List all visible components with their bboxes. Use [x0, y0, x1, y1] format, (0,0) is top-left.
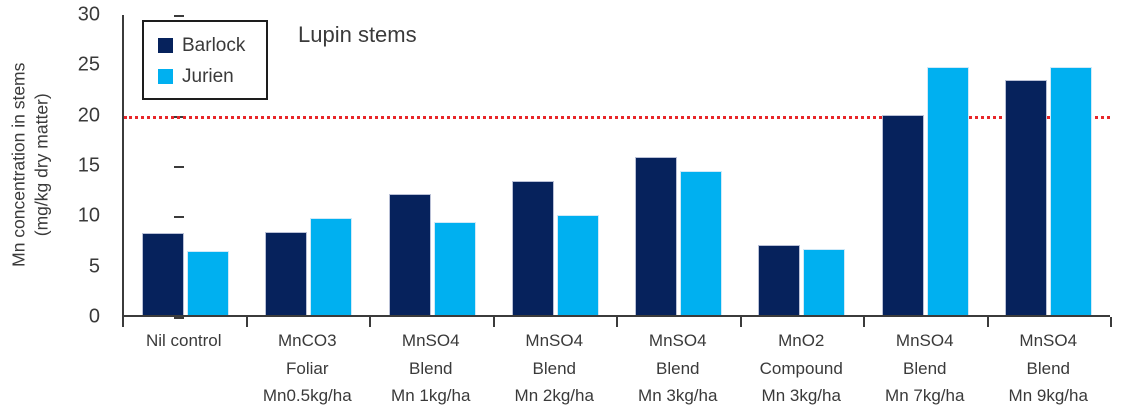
x-category-line: Compound — [740, 355, 864, 383]
legend-swatch-icon — [158, 38, 173, 53]
x-category-label: Nil control — [122, 327, 246, 416]
y-tick-label: 0 — [89, 306, 100, 329]
x-category-line: Blend — [369, 355, 493, 383]
legend-swatch-icon — [158, 69, 173, 84]
plot-area — [122, 15, 1110, 317]
x-category-line: Mn 9kg/ha — [987, 382, 1111, 410]
bar-jurien[interactable] — [187, 251, 229, 315]
x-axis-labels: Nil control MnCO3FoliarMn0.5kg/haMnSO4Bl… — [122, 327, 1110, 416]
bar-barlock[interactable] — [758, 245, 800, 315]
x-category-label: MnSO4BlendMn 2kg/ha — [493, 327, 617, 416]
bar-group — [371, 15, 494, 315]
bar-barlock[interactable] — [635, 157, 677, 315]
legend-item-jurien[interactable]: Jurien — [158, 61, 266, 92]
x-category-line: Mn 7kg/ha — [863, 382, 987, 410]
bar-jurien[interactable] — [927, 67, 969, 315]
y-axis-ticks: 051015202530 — [62, 0, 112, 332]
chart-title: Lupin stems — [298, 22, 417, 48]
x-category-line: MnSO4 — [369, 327, 493, 355]
y-axis-title-line2: (mg/kg dry matter) — [30, 63, 53, 267]
bar-group — [987, 15, 1110, 315]
x-category-label: MnCO3FoliarMn0.5kg/ha — [246, 327, 370, 416]
bar-jurien[interactable] — [310, 218, 352, 315]
bar-barlock[interactable] — [512, 181, 554, 315]
x-category-line: Blend — [616, 355, 740, 383]
x-category-line: Mn 2kg/ha — [493, 382, 617, 410]
x-tick-mark — [493, 317, 495, 327]
y-tick-label: 15 — [78, 155, 100, 178]
bar-barlock[interactable] — [142, 233, 184, 315]
x-category-line — [122, 382, 246, 410]
bar-barlock[interactable] — [1005, 80, 1047, 315]
x-category-line: Mn 3kg/ha — [740, 382, 864, 410]
bar-barlock[interactable] — [882, 115, 924, 315]
x-category-label: MnSO4BlendMn 3kg/ha — [616, 327, 740, 416]
x-tick-mark — [863, 317, 865, 327]
bar-jurien[interactable] — [680, 171, 722, 315]
y-tick-label: 25 — [78, 54, 100, 77]
bar-chart: Mn concentration in stems (mg/kg dry mat… — [0, 0, 1140, 416]
bar-group — [494, 15, 617, 315]
legend-label: Jurien — [182, 66, 234, 88]
y-tick-label: 30 — [78, 4, 100, 27]
x-category-line: MnSO4 — [987, 327, 1111, 355]
x-category-line: Foliar — [246, 355, 370, 383]
y-tick-label: 5 — [89, 255, 100, 278]
bar-barlock[interactable] — [265, 232, 307, 315]
x-category-line: Mn0.5kg/ha — [246, 382, 370, 410]
x-category-line: Blend — [493, 355, 617, 383]
bar-jurien[interactable] — [434, 222, 476, 315]
legend-item-barlock[interactable]: Barlock — [158, 30, 266, 61]
x-category-line: MnO2 — [740, 327, 864, 355]
bar-group — [864, 15, 987, 315]
chart-legend: BarlockJurien — [142, 20, 268, 100]
x-category-label: MnO2CompoundMn 3kg/ha — [740, 327, 864, 416]
bar-group — [617, 15, 740, 315]
x-category-line: Blend — [987, 355, 1111, 383]
x-tick-mark — [1110, 317, 1112, 327]
x-category-line: Mn 3kg/ha — [616, 382, 740, 410]
bar-jurien[interactable] — [803, 249, 845, 315]
y-tick-label: 20 — [78, 104, 100, 127]
x-category-line: MnCO3 — [246, 327, 370, 355]
x-category-label: MnSO4BlendMn 1kg/ha — [369, 327, 493, 416]
x-category-line: Nil control — [122, 327, 246, 355]
x-tick-mark — [246, 317, 248, 327]
x-tick-mark — [369, 317, 371, 327]
x-tick-mark — [740, 317, 742, 327]
x-category-line: MnSO4 — [863, 327, 987, 355]
x-category-line — [122, 355, 246, 383]
bar-jurien[interactable] — [1050, 67, 1092, 315]
x-tick-mark — [122, 317, 124, 327]
bar-barlock[interactable] — [389, 194, 431, 315]
bar-groups — [124, 15, 1110, 315]
bar-jurien[interactable] — [557, 215, 599, 315]
legend-label: Barlock — [182, 35, 245, 57]
x-category-label: MnSO4BlendMn 7kg/ha — [863, 327, 987, 416]
x-category-line: Blend — [863, 355, 987, 383]
y-tick-label: 10 — [78, 205, 100, 228]
x-category-line: Mn 1kg/ha — [369, 382, 493, 410]
bar-group — [740, 15, 863, 315]
x-tick-mark — [616, 317, 618, 327]
x-tick-mark — [987, 317, 989, 327]
y-axis-title: Mn concentration in stems (mg/kg dry mat… — [0, 0, 60, 330]
x-category-line: MnSO4 — [616, 327, 740, 355]
y-axis-title-line1: Mn concentration in stems — [7, 63, 30, 267]
x-category-label: MnSO4BlendMn 9kg/ha — [987, 327, 1111, 416]
x-category-line: MnSO4 — [493, 327, 617, 355]
